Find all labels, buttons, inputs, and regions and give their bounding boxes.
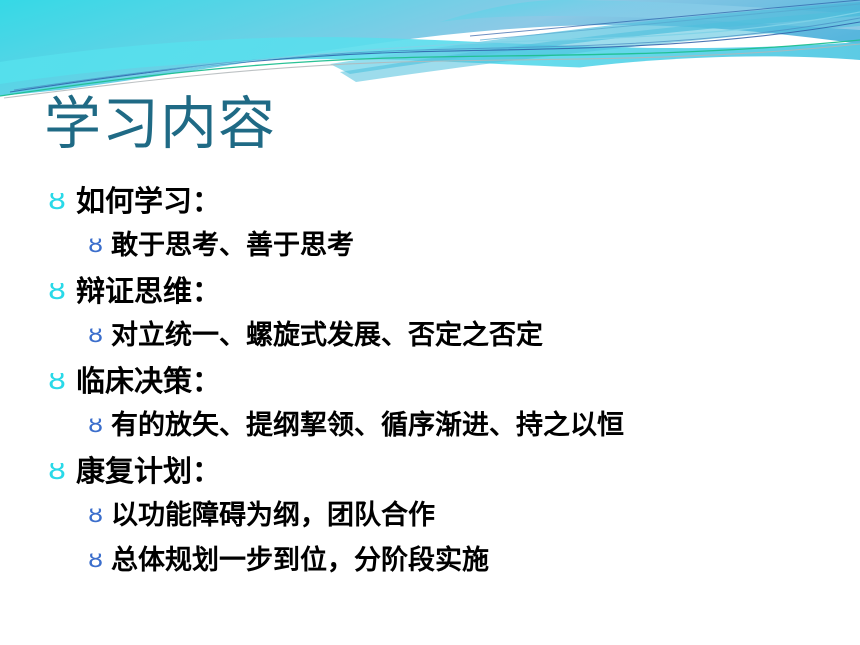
bullet-item-label: 有的放矢、提纲挈领、循序渐进、持之以恒	[111, 405, 624, 446]
bullet-item-level-2: ȣ以功能障碍为纲，团队合作	[0, 495, 860, 540]
swirl-bullet-icon: ȣ	[88, 495, 115, 536]
swirl-bullet-icon: ȣ	[48, 270, 81, 312]
bullet-item-label: 对立统一、螺旋式发展、否定之否定	[111, 315, 543, 356]
swirl-bullet-icon: ȣ	[88, 225, 115, 266]
bullet-item-label: 总体规划一步到位，分阶段实施	[111, 540, 489, 581]
swirl-bullet-icon: ȣ	[48, 180, 81, 222]
bullet-item-label: 康复计划：	[76, 450, 221, 492]
swirl-bullet-icon: ȣ	[48, 450, 81, 492]
bullet-item-level-1: ȣ辩证思维：	[0, 270, 860, 315]
bullet-item-label: 如何学习：	[76, 180, 221, 222]
bullet-item-level-1: ȣ临床决策：	[0, 360, 860, 405]
swirl-bullet-icon: ȣ	[88, 315, 115, 356]
bullet-item-level-2: ȣ有的放矢、提纲挈领、循序渐进、持之以恒	[0, 405, 860, 450]
bullet-item-label: 以功能障碍为纲，团队合作	[111, 495, 435, 536]
swirl-bullet-icon: ȣ	[48, 360, 81, 402]
bullet-item-level-2: ȣ总体规划一步到位，分阶段实施	[0, 540, 860, 585]
swirl-bullet-icon: ȣ	[88, 540, 115, 581]
presentation-slide: 学习内容 ȣ如何学习：ȣ敢于思考、善于思考ȣ辩证思维：ȣ对立统一、螺旋式发展、否…	[0, 0, 860, 645]
page-title: 学习内容	[44, 88, 824, 160]
header-wave-decoration	[0, 0, 860, 100]
bullet-item-level-1: ȣ如何学习：	[0, 180, 860, 225]
bullet-item-label: 辩证思维：	[76, 270, 221, 312]
bullet-item-label: 临床决策：	[76, 360, 221, 402]
swirl-bullet-icon: ȣ	[88, 405, 115, 446]
bullet-item-level-2: ȣ敢于思考、善于思考	[0, 225, 860, 270]
content-placeholder: ȣ如何学习：ȣ敢于思考、善于思考ȣ辩证思维：ȣ对立统一、螺旋式发展、否定之否定ȣ…	[0, 180, 860, 585]
title-placeholder: 学习内容	[44, 88, 824, 164]
bullet-item-label: 敢于思考、善于思考	[111, 225, 354, 266]
bullet-item-level-2: ȣ对立统一、螺旋式发展、否定之否定	[0, 315, 860, 360]
bullet-item-level-1: ȣ康复计划：	[0, 450, 860, 495]
